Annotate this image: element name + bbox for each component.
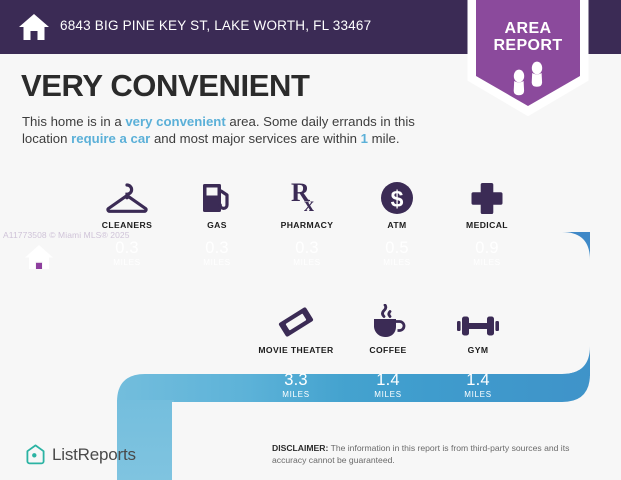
coffee-icon [369,300,407,340]
svg-text:x: x [304,194,314,215]
amenity-gym: GYM [434,293,522,355]
distance-unit: MILES [464,390,492,399]
listreports-logo-text: ListReports [52,445,136,465]
dollar-icon: $ [380,175,414,215]
distance-value: 0.3 [295,239,319,257]
amenity-coffee: COFFEE [342,293,434,355]
distance-medical: 0.9 MILES [442,239,532,267]
amenity-atm: $ ATM [352,168,442,230]
disclaimer: DISCLAIMER: The information in this repo… [272,443,602,466]
distance-unit: MILES [203,258,231,267]
hanger-icon [105,175,149,215]
amenity-label: CLEANERS [102,220,152,230]
disclaimer-label: DISCLAIMER: [272,443,328,453]
ticket-icon [278,300,314,340]
distance-pharmacy: 0.3 MILES [262,239,352,267]
svg-text:$: $ [391,186,404,212]
gas-pump-icon [199,175,235,215]
listreports-logo[interactable]: ListReports [26,444,136,465]
distance-gym: 1.4 MILES [434,371,522,399]
amenity-label: COFFEE [369,345,406,355]
distance-coffee: 1.4 MILES [342,371,434,399]
distance-unit: MILES [374,390,402,399]
amenity-medical: MEDICAL [442,168,532,230]
listreports-logo-icon [26,444,45,465]
amenity-label: MOVIE THEATER [258,345,333,355]
distance-row-1: 0.3 MILES 0.3 MILES 0.3 MILES 0.5 MILES … [82,239,582,267]
amenity-gas: GAS [172,168,262,230]
distance-value: 1.4 [376,371,400,389]
distance-atm: 0.5 MILES [352,239,442,267]
distance-unit: MILES [282,390,310,399]
home-marker-icon [24,242,54,272]
distance-unit: MILES [113,258,141,267]
amenity-label: PHARMACY [281,220,334,230]
amenity-cleaners: CLEANERS [82,168,172,230]
distance-unit: MILES [293,258,321,267]
distance-cleaners: 0.3 MILES [82,239,172,267]
distance-value: 0.5 [385,239,409,257]
amenity-icon-row-2: MOVIE THEATER COFFEE [250,293,522,355]
amenity-pharmacy: R x PHARMACY [262,168,352,230]
distance-row-2: 3.3 MILES 1.4 MILES 1.4 MILES [250,371,522,399]
medical-cross-icon [470,175,504,215]
distance-gas: 0.3 MILES [172,239,262,267]
area-report-badge: AREA REPORT [467,0,589,116]
amenity-label: ATM [387,220,406,230]
distance-value: 0.3 [205,239,229,257]
amenity-icon-row-1: CLEANERS GAS R x PHARMACY [82,168,582,230]
distance-value: 1.4 [466,371,490,389]
distance-value: 0.3 [115,239,139,257]
distance-value: 3.3 [284,371,308,389]
amenity-movie-theater: MOVIE THEATER [250,293,342,355]
distance-unit: MILES [473,258,501,267]
mls-watermark: A11773508 © Miami MLS® 2025 [3,230,130,240]
home-icon [18,11,50,43]
distance-movie-theater: 3.3 MILES [250,371,342,399]
amenity-label: GYM [468,345,489,355]
dumbbell-icon [457,300,499,340]
distance-value: 0.9 [475,239,499,257]
distance-unit: MILES [383,258,411,267]
rx-icon: R x [289,175,325,215]
area-report-infographic: 6843 BIG PINE KEY ST, LAKE WORTH, FL 334… [0,0,621,480]
amenity-label: MEDICAL [466,220,508,230]
amenity-label: GAS [207,220,227,230]
property-address: 6843 BIG PINE KEY ST, LAKE WORTH, FL 334… [60,18,371,33]
